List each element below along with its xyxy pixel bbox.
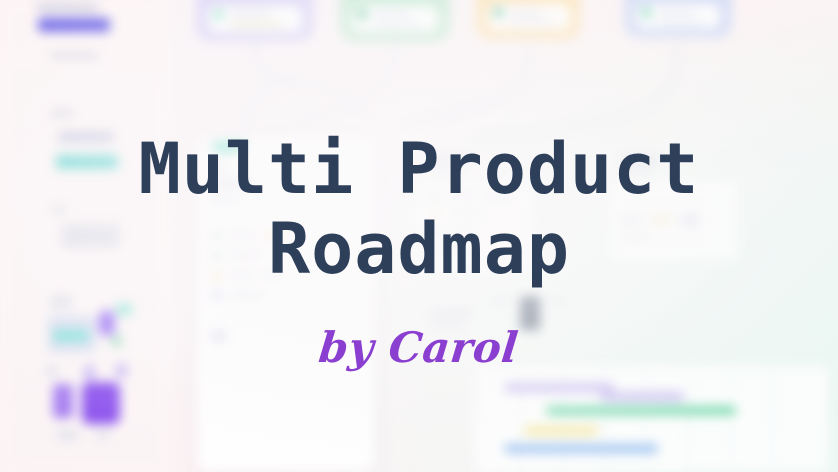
page-title-line-2: Roadmap — [139, 209, 700, 289]
cover-image: Multi Product Roadmap by Carol — [0, 0, 838, 472]
page-title-line-1: Multi Product — [139, 129, 700, 209]
author-byline: by Carol — [317, 323, 521, 372]
cover-text-group: Multi Product Roadmap by Carol — [0, 0, 838, 472]
page-title: Multi Product Roadmap — [139, 101, 700, 289]
